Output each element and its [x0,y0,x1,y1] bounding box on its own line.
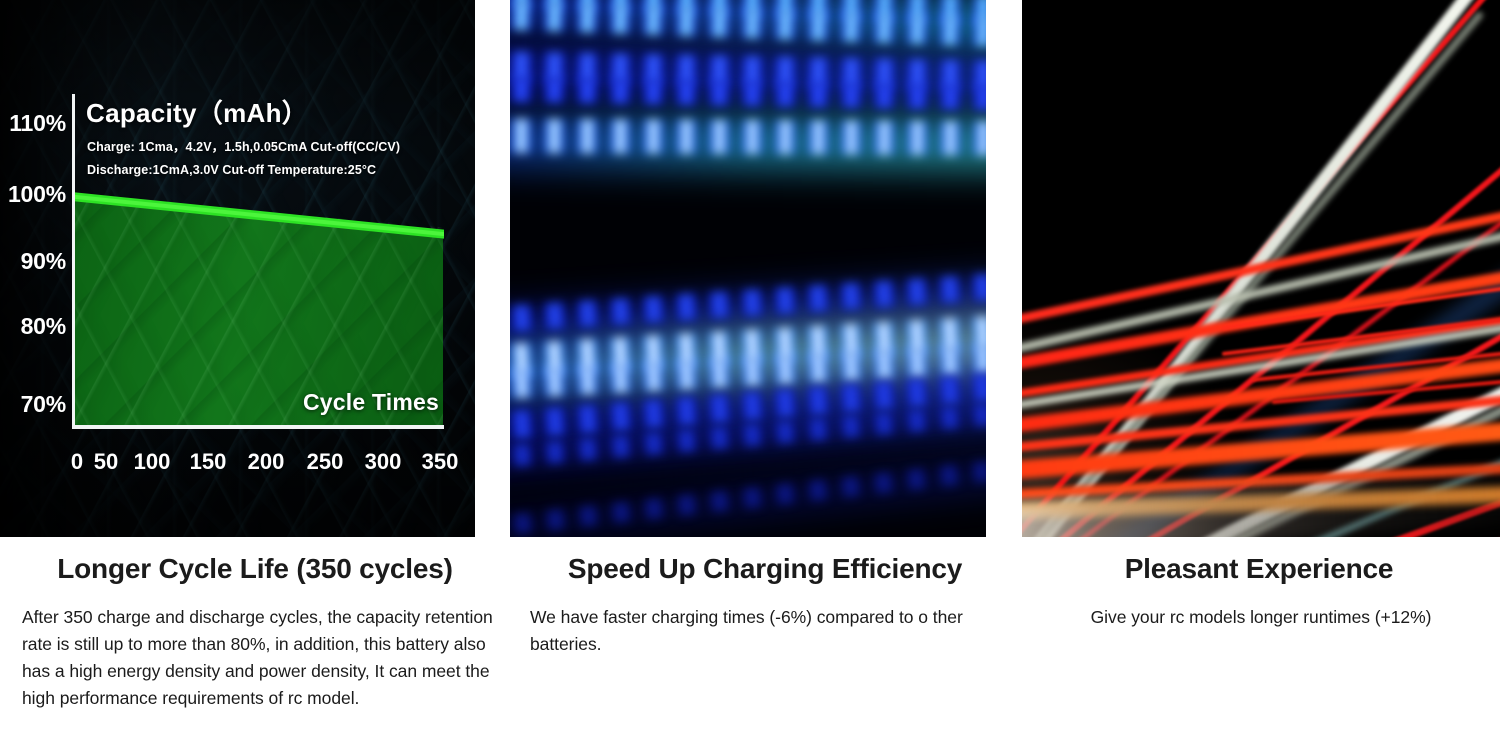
feature-body-pleasant-experience: Give your rc models longer runtimes (+12… [1046,604,1476,631]
capacity-trend-line [75,190,444,240]
y-tick-label-80: 80% [0,313,66,340]
feature-body-speed-up-charging: We have faster charging times (-6%) comp… [530,604,1000,658]
y-tick-label-110: 110% [0,110,66,137]
y-axis-line [72,94,75,428]
feature-column-pleasant-experience: Pleasant Experience Give your rc models … [1020,0,1500,750]
chart-subtitle-discharge: Discharge:1CmA,3.0V Cut-off Temperature:… [87,163,376,177]
led-row-5 [510,119,986,156]
feature-title-longer-cycle-life: Longer Cycle Life (350 cycles) [0,553,510,585]
capacity-cycle-chart-image: 110% 100% 90% 80% 70% 0 50 100 150 200 2… [0,0,475,537]
feature-row: 110% 100% 90% 80% 70% 0 50 100 150 200 2… [0,0,1500,750]
x-tick-label-350: 350 [422,449,459,475]
y-tick-label-90: 90% [0,248,66,275]
feature-title-pleasant-experience: Pleasant Experience [1020,553,1500,585]
x-tick-label-100: 100 [134,449,171,475]
x-tick-label-0: 0 [71,449,83,475]
chart-subtitle-charge: Charge: 1Cma，4.2V，1.5h,0.05CmA Cut-off(C… [87,136,400,155]
x-tick-label-150: 150 [190,449,227,475]
feature-column-longer-cycle-life: 110% 100% 90% 80% 70% 0 50 100 150 200 2… [0,0,510,750]
feature-column-speed-up-charging: Speed Up Charging Efficiency We have fas… [510,0,1020,750]
x-tick-label-300: 300 [365,449,402,475]
y-tick-label-100: 100% [0,181,66,208]
x-axis-line [72,425,444,429]
feature-body-longer-cycle-life: After 350 charge and discharge cycles, t… [22,604,518,712]
x-tick-label-200: 200 [248,449,285,475]
feature-title-speed-up-charging: Speed Up Charging Efficiency [510,553,1020,585]
x-tick-label-50: 50 [94,449,118,475]
chart-title: Capacity（mAh） [86,93,308,130]
blue-led-strips-image [510,0,986,537]
chart-x-axis-title: Cycle Times [303,389,439,416]
y-tick-label-70: 70% [0,391,66,418]
red-light-trails-image [1022,0,1500,537]
x-tick-label-250: 250 [307,449,344,475]
capacity-chart: 110% 100% 90% 80% 70% 0 50 100 150 200 2… [0,0,475,537]
